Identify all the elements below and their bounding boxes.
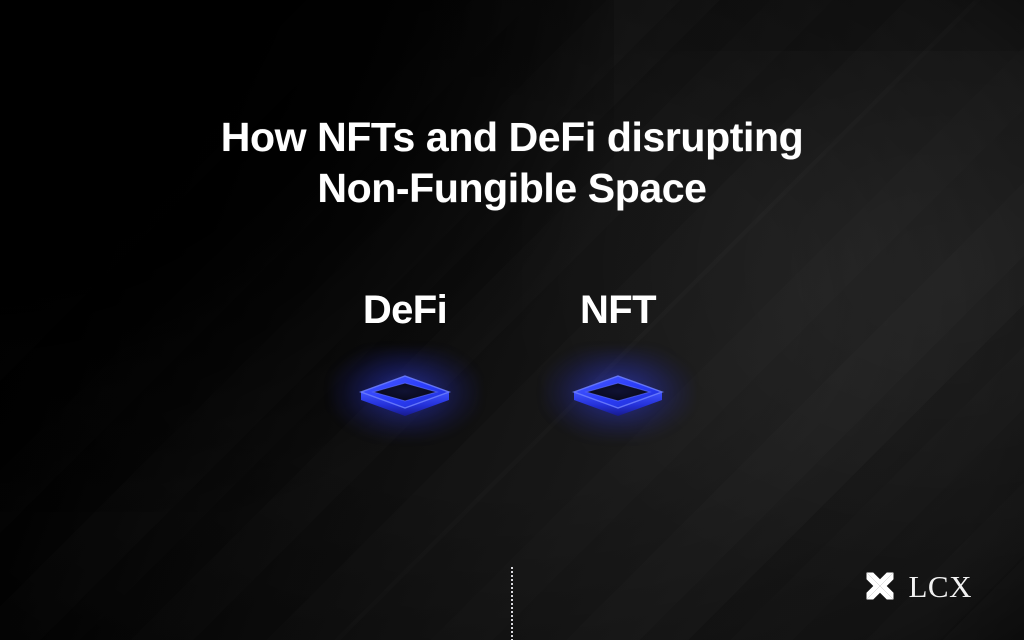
page-title-line-1: How NFTs and DeFi disrupting bbox=[0, 112, 1024, 163]
banner-canvas: How NFTs and DeFi disrupting Non-Fungibl… bbox=[0, 0, 1024, 640]
comparison-section: DeFi bbox=[0, 282, 1024, 442]
hexagon-plinth-icon-defi bbox=[353, 364, 457, 424]
page-title: How NFTs and DeFi disrupting Non-Fungibl… bbox=[0, 112, 1024, 214]
hexagon-plinth-shape bbox=[353, 364, 457, 424]
hexagon-plinth-shape bbox=[566, 364, 670, 424]
comparison-label-nft: NFT bbox=[488, 282, 748, 338]
lcx-logo: LCX bbox=[860, 566, 973, 606]
lcx-star-icon bbox=[860, 566, 900, 606]
dotted-vertical-divider bbox=[511, 567, 513, 640]
comparison-column-nft: NFT bbox=[488, 282, 748, 424]
page-title-line-2: Non-Fungible Space bbox=[0, 163, 1024, 214]
hexagon-plinth-icon-nft bbox=[566, 364, 670, 424]
lcx-logo-text: LCX bbox=[909, 571, 973, 602]
